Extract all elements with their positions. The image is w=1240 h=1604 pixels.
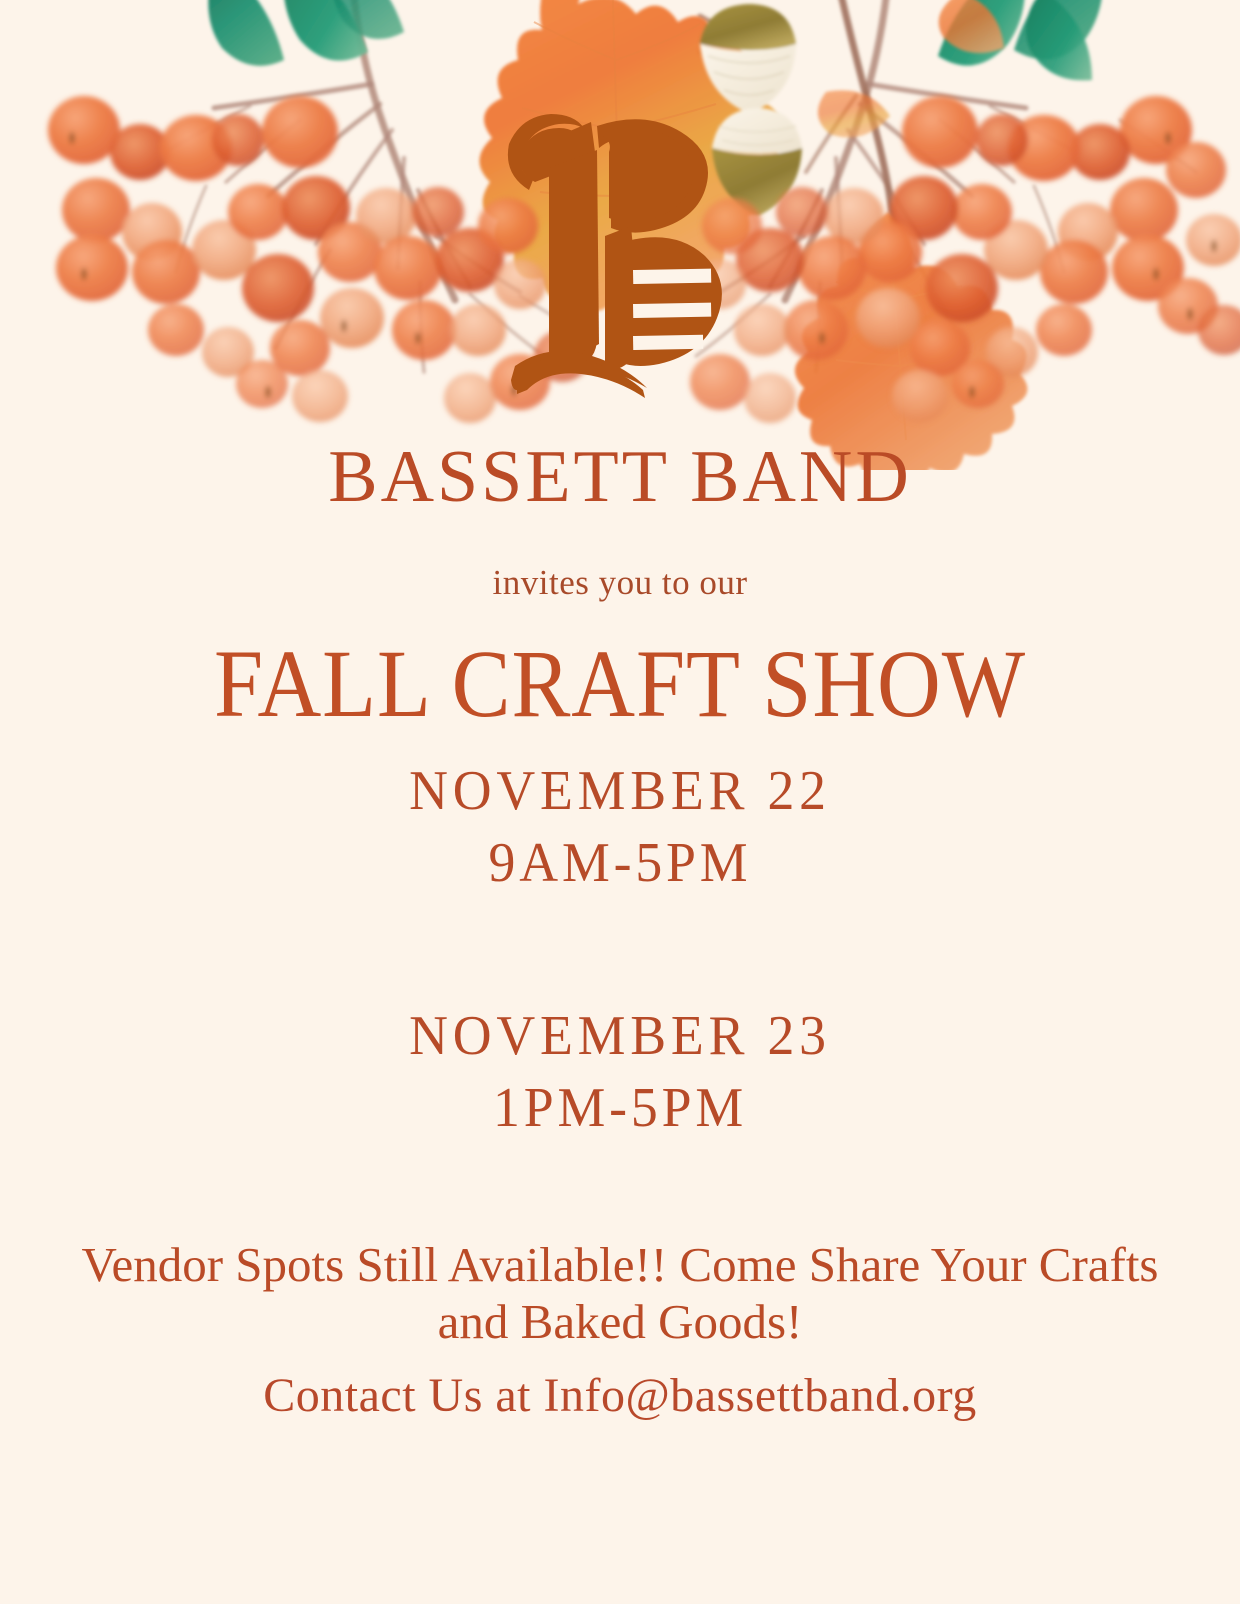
flyer-text-content: BASSETT BAND invites you to our FALL CRA… [0, 0, 1240, 1604]
flyer-page: BASSETT BAND invites you to our FALL CRA… [0, 0, 1240, 1604]
event-title: FALL CRAFT SHOW [50, 633, 1191, 735]
date-1-date: NOVEMBER 22 [25, 755, 1215, 827]
vendor-notice-line-2: and Baked Goods! [60, 1293, 1180, 1350]
vendor-notice: Vendor Spots Still Available!! Come Shar… [60, 1236, 1180, 1350]
date-block-1: NOVEMBER 22 9AM-5PM [0, 755, 1240, 899]
date-2-time: 1PM-5PM [25, 1072, 1215, 1144]
vendor-notice-line-1: Vendor Spots Still Available!! Come Shar… [81, 1237, 1158, 1292]
page-title: BASSETT BAND [0, 437, 1240, 517]
date-2-date: NOVEMBER 23 [25, 1000, 1215, 1072]
date-1-time: 9AM-5PM [25, 827, 1215, 899]
date-block-2: NOVEMBER 23 1PM-5PM [0, 1000, 1240, 1144]
contact-line: Contact Us at Info@bassettband.org [0, 1367, 1240, 1425]
invitation-line: invites you to our [0, 562, 1240, 604]
